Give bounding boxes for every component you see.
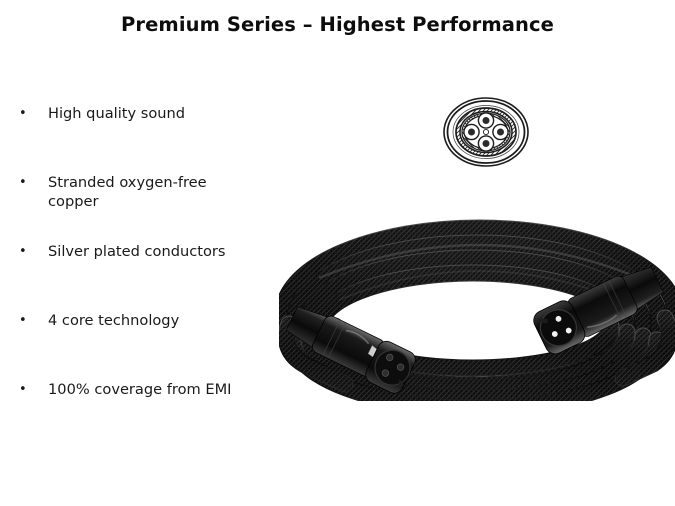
center-filler <box>483 129 488 134</box>
conductor-core-right <box>493 124 508 139</box>
cable-cross-section-diagram <box>442 96 530 168</box>
conductor-core-top <box>478 113 493 128</box>
list-item-label: Stranded oxygen-free copper <box>48 173 290 211</box>
bullet-marker-icon: • <box>19 104 27 123</box>
cable-coil-group <box>282 228 675 401</box>
bullet-marker-icon: • <box>19 311 27 330</box>
bullet-marker-icon: • <box>19 173 27 192</box>
conductor-core-bottom <box>478 136 493 151</box>
page-title: Premium Series – Highest Performance <box>0 12 675 38</box>
list-item: • Stranded oxygen-free copper <box>14 173 290 211</box>
list-item-label: Silver plated conductors <box>48 242 290 261</box>
list-item: • 4 core technology <box>14 311 290 330</box>
xlr-cable-photo <box>279 206 675 401</box>
list-item: • High quality sound <box>14 104 290 123</box>
conductor-core-left <box>464 124 479 139</box>
list-item-label: 100% coverage from EMI <box>48 380 290 399</box>
feature-bullet-list: • High quality sound • Stranded oxygen-f… <box>14 104 290 399</box>
bullet-marker-icon: • <box>19 242 27 261</box>
list-item-label: 4 core technology <box>48 311 290 330</box>
list-item: • Silver plated conductors <box>14 242 290 261</box>
list-item: • 100% coverage from EMI <box>14 380 290 399</box>
list-item-label: High quality sound <box>48 104 290 123</box>
bullet-marker-icon: • <box>19 380 27 399</box>
